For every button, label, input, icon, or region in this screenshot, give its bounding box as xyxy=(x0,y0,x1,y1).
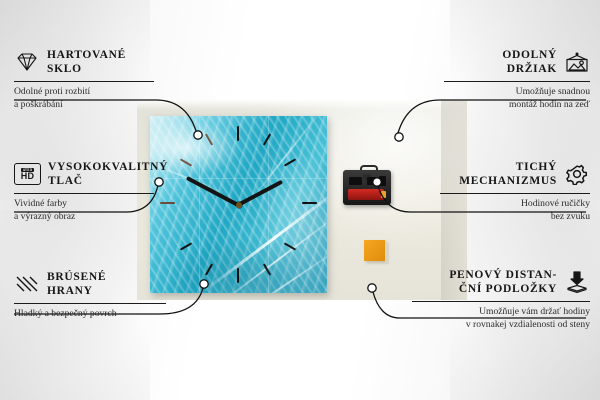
feature-title-line1: BRÚSENÉ xyxy=(47,270,106,284)
feature-header: PENOVÝ DISTAN- ČNÍ PODLOŽKY xyxy=(412,268,590,297)
feature-divider xyxy=(440,193,590,194)
feature-polished-edges: BRÚSENÉ HRANY Hladký a bezpečný povrch xyxy=(14,270,166,321)
diamond-icon xyxy=(14,51,40,73)
feature-title: TICHÝ MECHANIZMUS xyxy=(459,160,557,189)
feature-hd-print: ultra HD VYSOKOKVALITNÝ TLAČ Vividné far… xyxy=(14,160,154,224)
feature-divider xyxy=(444,81,590,82)
feature-header: ultra HD VYSOKOKVALITNÝ TLAČ xyxy=(14,160,154,189)
feature-title-line2: DRŽIAK xyxy=(502,62,557,76)
feature-desc-line2: a poškrábání xyxy=(14,99,154,112)
mechanism-vent xyxy=(349,177,362,185)
feature-desc-line2: a výrazný obraz xyxy=(14,211,154,224)
feature-divider xyxy=(14,303,166,304)
press-pad-icon xyxy=(564,271,590,293)
feature-title-line2: SKLO xyxy=(47,62,126,76)
feature-divider xyxy=(14,81,154,82)
feature-title-line2: MECHANIZMUS xyxy=(459,174,557,188)
feature-description: Hladký a bezpečný povrch xyxy=(14,308,166,321)
feature-desc-line1: Odolné proti rozbití xyxy=(14,86,154,99)
feature-desc-line1: Hladký a bezpečný povrch xyxy=(14,308,166,321)
hanging-frame-icon xyxy=(564,51,590,73)
feature-divider xyxy=(14,193,154,194)
feature-title: HARTOVANÉ SKLO xyxy=(47,48,126,77)
mechanism-battery xyxy=(348,189,384,200)
feature-title-line2: HRANY xyxy=(47,284,106,298)
feature-description: Vividné farby a výrazný obraz xyxy=(14,198,154,224)
feature-description: Umožňuje vám držať hodiny v rovnakej vzd… xyxy=(412,306,590,332)
feature-divider xyxy=(412,301,590,302)
foam-spacer-pad xyxy=(364,240,385,261)
clock-mechanism xyxy=(343,165,391,205)
feature-title: BRÚSENÉ HRANY xyxy=(47,270,106,299)
feature-desc-line2: montáž hodin na zeď xyxy=(444,99,590,112)
feature-title: VYSOKOKVALITNÝ TLAČ xyxy=(48,160,168,189)
feature-description: Umožňuje snadnou montáž hodin na zeď xyxy=(444,86,590,112)
feature-durable-holder: ODOLNÝ DRŽIAK Umožňuje snadnou montáž ho… xyxy=(444,48,590,112)
feature-tempered-glass: HARTOVANÉ SKLO Odolné proti rozbití a po… xyxy=(14,48,154,112)
diagonal-lines-icon xyxy=(14,273,40,295)
feature-desc-line2: bez zvuku xyxy=(440,211,590,224)
wall-highlight xyxy=(137,100,467,110)
feature-desc-line1: Hodinové ručičky xyxy=(440,198,590,211)
feature-header: HARTOVANÉ SKLO xyxy=(14,48,154,77)
feature-title-line1: PENOVÝ DISTAN- xyxy=(449,268,557,282)
feature-foam-spacers: PENOVÝ DISTAN- ČNÍ PODLOŽKY Umožňuje vám… xyxy=(412,268,590,332)
wall-clock xyxy=(150,116,327,293)
mechanism-vent xyxy=(379,176,386,186)
feature-desc-line1: Umožňuje vám držať hodiny xyxy=(412,306,590,319)
foam-pad-side xyxy=(385,243,389,264)
battery-terminal xyxy=(381,191,386,198)
feature-title: PENOVÝ DISTAN- ČNÍ PODLOŽKY xyxy=(449,268,557,297)
clock-glass-gloss xyxy=(150,116,327,293)
feature-header: TICHÝ MECHANIZMUS xyxy=(440,160,590,189)
gear-icon xyxy=(564,163,590,185)
feature-description: Odolné proti rozbití a poškrábání xyxy=(14,86,154,112)
feature-title: ODOLNÝ DRŽIAK xyxy=(502,48,557,77)
feature-title-line2: TLAČ xyxy=(48,174,168,188)
feature-title-line1: TICHÝ xyxy=(459,160,557,174)
feature-header: ODOLNÝ DRŽIAK xyxy=(444,48,590,77)
feature-title-line2: ČNÍ PODLOŽKY xyxy=(449,282,557,296)
feature-desc-line2: v rovnakej vzdialenosti od steny xyxy=(412,319,590,332)
feature-title-line1: VYSOKOKVALITNÝ xyxy=(48,160,168,174)
infographic-canvas: HARTOVANÉ SKLO Odolné proti rozbití a po… xyxy=(0,0,600,400)
feature-title-line1: HARTOVANÉ xyxy=(47,48,126,62)
feature-description: Hodinové ručičky bez zvuku xyxy=(440,198,590,224)
feature-title-line1: ODOLNÝ xyxy=(502,48,557,62)
feature-desc-line1: Umožňuje snadnou xyxy=(444,86,590,99)
ultra-hd-icon: ultra HD xyxy=(14,163,41,185)
feature-header: BRÚSENÉ HRANY xyxy=(14,270,166,299)
feature-silent-mechanism: TICHÝ MECHANIZMUS Hodinové ručičky bez z… xyxy=(440,160,590,224)
ultra-hd-icon-hd: HD xyxy=(21,172,35,181)
mechanism-vent xyxy=(367,177,376,185)
feature-desc-line1: Vividné farby xyxy=(14,198,154,211)
